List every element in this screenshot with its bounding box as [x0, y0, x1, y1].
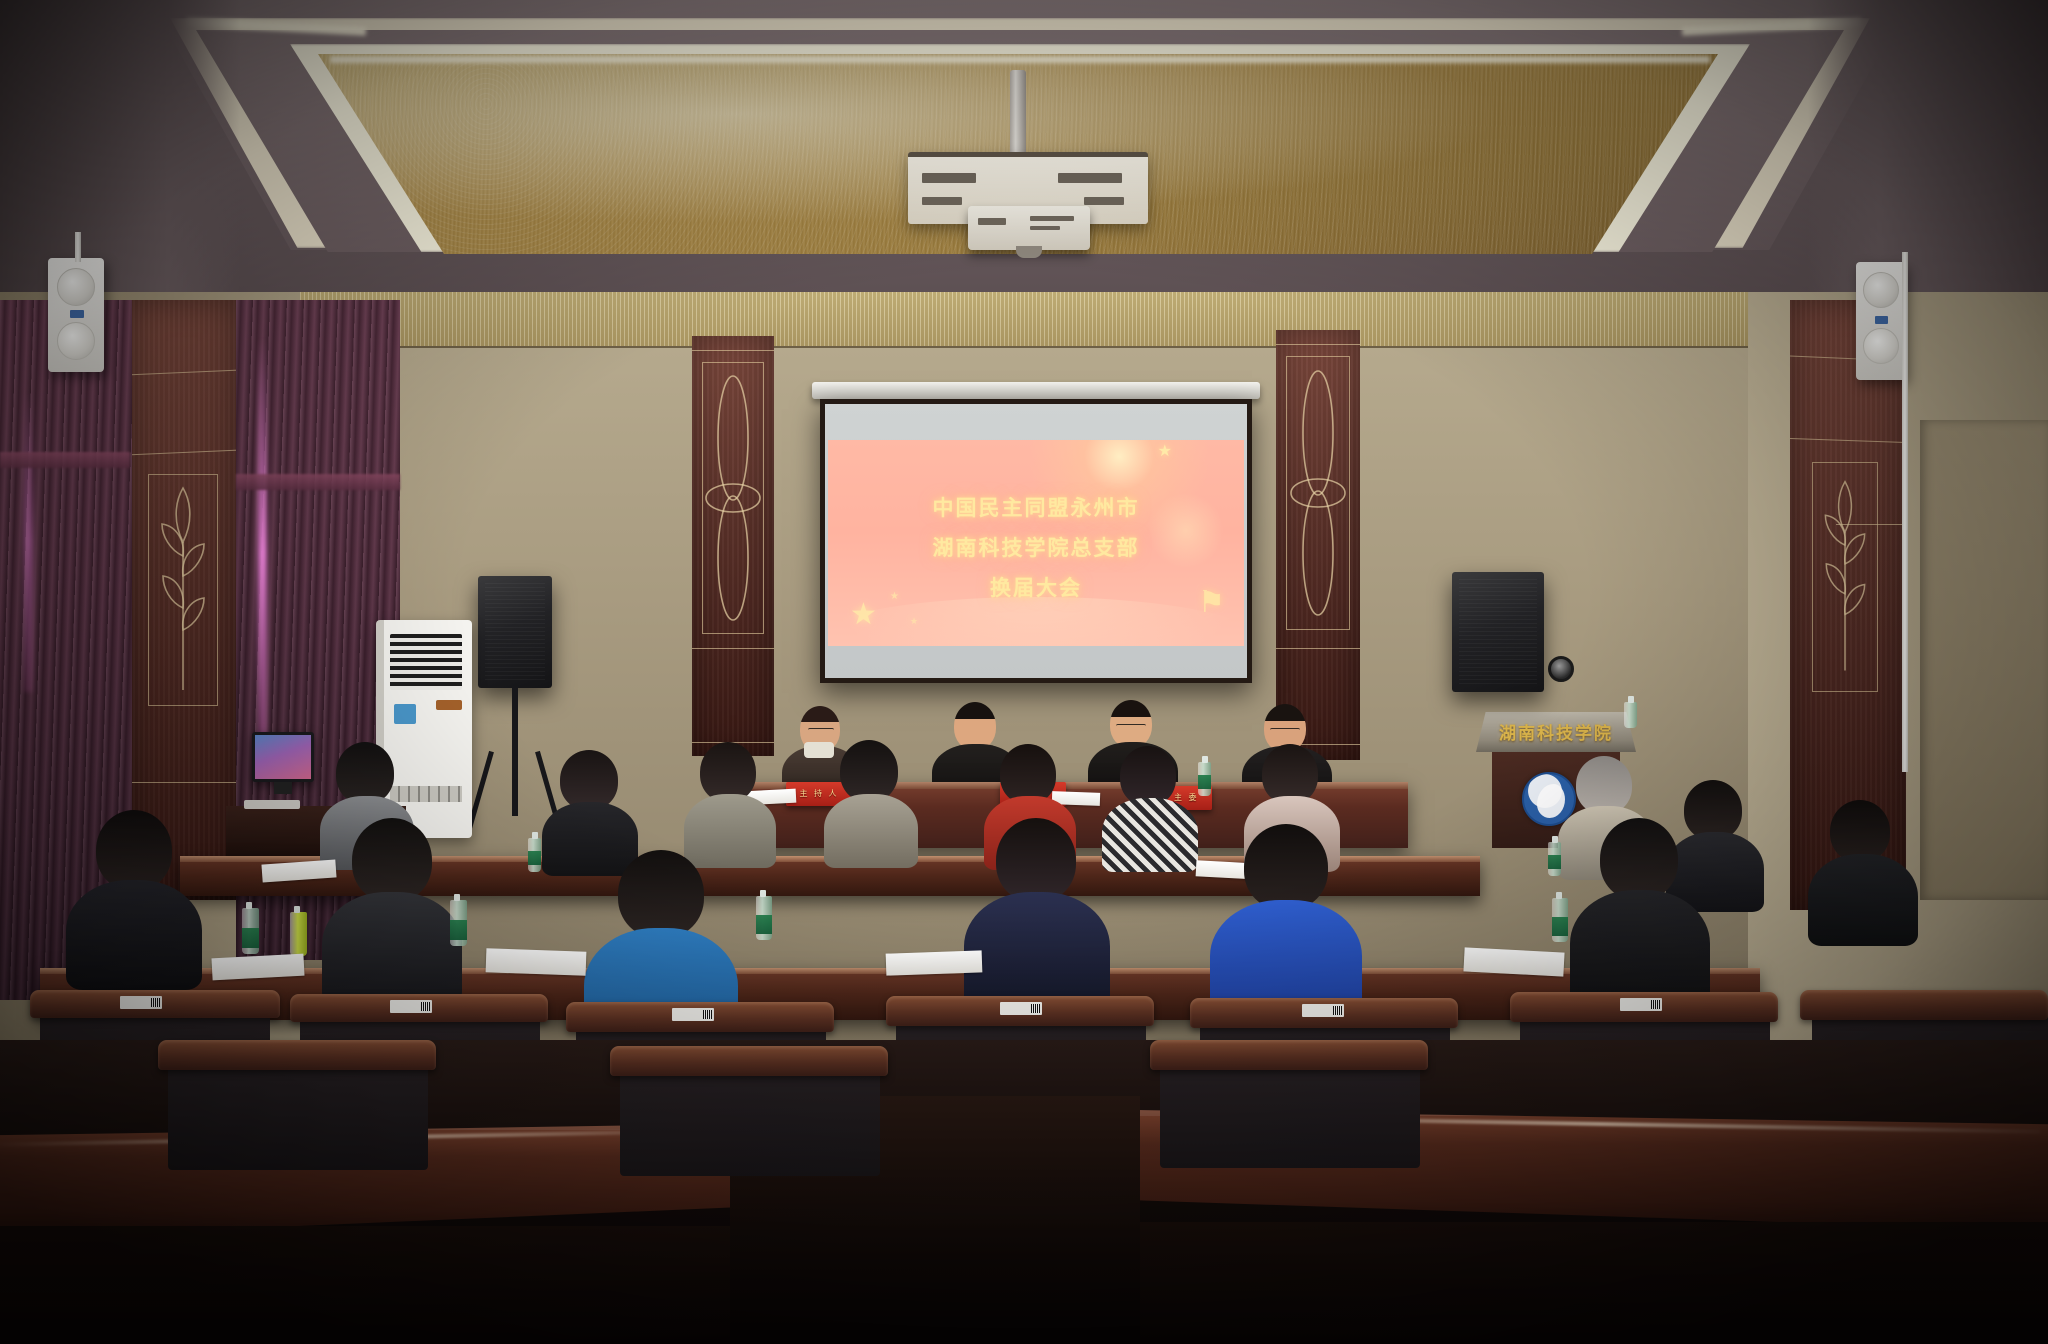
bottle: [450, 900, 467, 946]
document: [886, 950, 983, 975]
leaf-sprig-icon: [1816, 468, 1874, 686]
bottle: [756, 896, 772, 940]
chair-backrest: [158, 1040, 436, 1070]
bottle: [242, 908, 259, 954]
asset-tag: [1302, 1004, 1344, 1017]
slide-line-3: 换届大会: [828, 572, 1244, 602]
control-monitor: [252, 732, 314, 782]
right-pa-speaker: [1452, 572, 1544, 692]
slide-figure-icon: ⚑: [1198, 588, 1228, 634]
asset-tag: [390, 1000, 432, 1013]
projector-lens: [1016, 246, 1042, 258]
bottle: [1552, 898, 1568, 942]
curtain-light-streak: [258, 338, 267, 768]
asset-tag: [672, 1008, 714, 1021]
slide-star-icon: ★: [1158, 444, 1172, 460]
asset-tag: [1620, 998, 1662, 1011]
chair-backrest: [1150, 1040, 1428, 1070]
bottle: [1624, 702, 1637, 728]
right-wall-recess: [1920, 420, 2048, 900]
curtain-light-streak: [24, 392, 33, 692]
leaf-sprig-icon: [152, 480, 214, 700]
left-pa-speaker: [478, 576, 552, 688]
chair-backrest: [1800, 990, 2048, 1020]
left-speaker-mount: [75, 232, 81, 262]
bottle: [528, 838, 541, 872]
curtain-tieback: [0, 452, 130, 468]
asset-tag: [120, 996, 162, 1009]
asset-tag: [1000, 1002, 1042, 1015]
front-table-right-apron: [1136, 1222, 2048, 1344]
four-petal-flower-icon: [1289, 360, 1347, 624]
bottle: [1198, 762, 1211, 796]
slide-line-2: 湖南科技学院总支部: [828, 532, 1244, 562]
keyboard: [244, 800, 300, 809]
chair-backrest: [610, 1046, 888, 1076]
four-petal-flower-icon: [704, 366, 762, 628]
conference-hall-photo: ★ ★ ★ ★ 中国民主同盟永州市 湖南科技学院总支部 换届大会 ⚑ 湖南科技学…: [0, 0, 2048, 1344]
slide-star-icon: ★: [850, 600, 877, 630]
projector-icon: [968, 206, 1090, 250]
bottle: [1548, 842, 1561, 876]
slide-swoosh: [828, 597, 1244, 646]
right-speaker-conduit: [1902, 252, 1908, 772]
document: [486, 948, 587, 975]
monitor-screen: [255, 735, 311, 779]
ceiling-shadow-left: [0, 0, 240, 300]
slide-star-icon: ★: [910, 617, 918, 626]
curtain-tieback: [236, 474, 400, 490]
cove-strip-front: [330, 56, 1710, 63]
podium-spotlight-icon: [1548, 656, 1574, 682]
presentation-slide: ★ ★ ★ ★ 中国民主同盟永州市 湖南科技学院总支部 换届大会 ⚑: [828, 440, 1244, 646]
slide-line-1: 中国民主同盟永州市: [828, 492, 1244, 522]
green-tea-bottle: [290, 912, 307, 956]
monitor-stand: [274, 782, 292, 794]
ceiling-shadow-right: [1808, 0, 2048, 300]
speaker-tripod: [512, 686, 518, 816]
front-table-left-apron: [0, 1226, 730, 1344]
screen-roller-housing: [812, 382, 1260, 399]
podium-name-plate: 湖南科技学院: [1476, 719, 1636, 744]
right-wall-speaker: [1856, 262, 1906, 380]
left-wall-speaker: [48, 258, 104, 372]
